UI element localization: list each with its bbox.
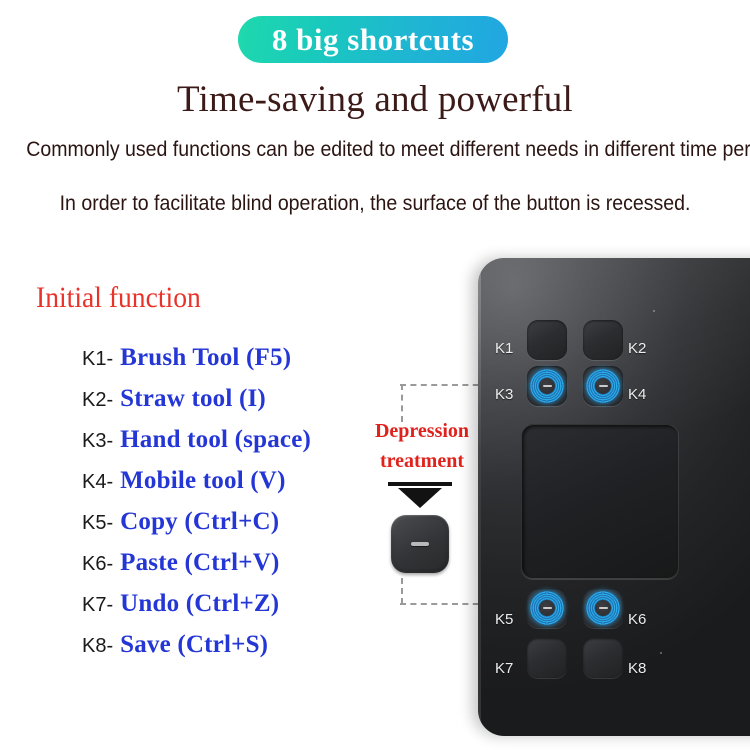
recessed-dash-icon bbox=[411, 542, 429, 546]
key-function: Straw tool (I) bbox=[120, 385, 266, 413]
device-button-label-k5: K5 bbox=[495, 611, 513, 628]
list-item: K1- Brush Tool (F5) bbox=[82, 344, 412, 385]
device-button-label-k1: K1 bbox=[495, 340, 513, 357]
key-label: K7- bbox=[82, 594, 113, 617]
initial-function-heading: Initial function bbox=[36, 281, 201, 315]
key-function: Hand tool (space) bbox=[120, 426, 311, 454]
depression-callout: Depression treatment bbox=[360, 416, 484, 476]
tablet-left-edge bbox=[478, 258, 481, 736]
callout-line-2: treatment bbox=[360, 446, 484, 476]
button-core bbox=[595, 378, 611, 394]
button-dash-icon bbox=[542, 657, 553, 659]
badge-label: 8 big shortcuts bbox=[272, 24, 474, 55]
button-dash-icon bbox=[598, 339, 609, 341]
device-button-label-k4: K4 bbox=[628, 386, 646, 403]
list-item: K5- Copy (Ctrl+C) bbox=[82, 508, 412, 549]
list-item: K7- Undo (Ctrl+Z) bbox=[82, 590, 412, 631]
connector-line-lower-vertical bbox=[401, 578, 403, 604]
button-highlight-ring bbox=[586, 369, 620, 403]
key-function: Brush Tool (F5) bbox=[120, 344, 291, 372]
key-function: Paste (Ctrl+V) bbox=[120, 549, 279, 577]
tablet-speck bbox=[660, 652, 662, 654]
arrow-bar bbox=[388, 482, 452, 486]
shortcuts-badge: 8 big shortcuts bbox=[238, 16, 508, 63]
key-function: Undo (Ctrl+Z) bbox=[120, 590, 279, 618]
key-label: K6- bbox=[82, 553, 113, 576]
button-core bbox=[539, 600, 555, 616]
button-highlight-ring bbox=[530, 369, 564, 403]
button-dash-icon bbox=[598, 657, 609, 659]
device-button-k1[interactable] bbox=[527, 320, 567, 360]
device-button-label-k7: K7 bbox=[495, 660, 513, 677]
key-label: K5- bbox=[82, 512, 113, 535]
button-highlight-ring bbox=[586, 591, 620, 625]
device-button-k3[interactable] bbox=[527, 366, 567, 406]
key-function: Save (Ctrl+S) bbox=[120, 631, 268, 659]
tablet-drawing-area[interactable] bbox=[521, 424, 679, 579]
key-label: K3- bbox=[82, 430, 113, 453]
list-item: K6- Paste (Ctrl+V) bbox=[82, 549, 412, 590]
device-button-k8[interactable] bbox=[583, 638, 623, 678]
recessed-button-face bbox=[395, 519, 445, 569]
button-dash-icon bbox=[543, 607, 552, 609]
button-core bbox=[539, 378, 555, 394]
key-label: K2- bbox=[82, 389, 113, 412]
subtitle-line-2: In order to facilitate blind operation, … bbox=[26, 192, 724, 216]
button-highlight-ring bbox=[530, 591, 564, 625]
down-arrow-icon bbox=[388, 482, 452, 508]
subtitle-line-1: Commonly used functions can be edited to… bbox=[26, 138, 724, 162]
key-function: Mobile tool (V) bbox=[120, 467, 285, 495]
promo-image: 8 big shortcuts Time-saving and powerful… bbox=[0, 0, 750, 750]
callout-line-1: Depression bbox=[360, 416, 484, 446]
button-dash-icon bbox=[599, 607, 608, 609]
device-button-k4[interactable] bbox=[583, 366, 623, 406]
connector-line-upper-vertical bbox=[401, 384, 403, 422]
recessed-button-closeup bbox=[391, 515, 449, 573]
device-button-k6[interactable] bbox=[583, 588, 623, 628]
arrow-triangle bbox=[398, 488, 442, 508]
device-button-label-k8: K8 bbox=[628, 660, 646, 677]
key-label: K1- bbox=[82, 348, 113, 371]
device-button-label-k2: K2 bbox=[628, 340, 646, 357]
key-label: K4- bbox=[82, 471, 113, 494]
graphics-tablet: K1 K2 K3 K4 bbox=[478, 258, 750, 736]
button-dash-icon bbox=[599, 385, 608, 387]
list-item: K8- Save (Ctrl+S) bbox=[82, 631, 412, 672]
device-button-k2[interactable] bbox=[583, 320, 623, 360]
device-button-label-k3: K3 bbox=[495, 386, 513, 403]
device-button-k5[interactable] bbox=[527, 588, 567, 628]
tablet-speck bbox=[653, 310, 655, 312]
device-button-label-k6: K6 bbox=[628, 611, 646, 628]
button-core bbox=[595, 600, 611, 616]
button-dash-icon bbox=[543, 385, 552, 387]
key-label: K8- bbox=[82, 635, 113, 658]
key-assignment-list: K1- Brush Tool (F5) K2- Straw tool (I) K… bbox=[82, 344, 412, 672]
key-function: Copy (Ctrl+C) bbox=[120, 508, 279, 536]
button-dash-icon bbox=[542, 339, 553, 341]
page-title: Time-saving and powerful bbox=[0, 78, 750, 121]
device-button-k7[interactable] bbox=[527, 638, 567, 678]
